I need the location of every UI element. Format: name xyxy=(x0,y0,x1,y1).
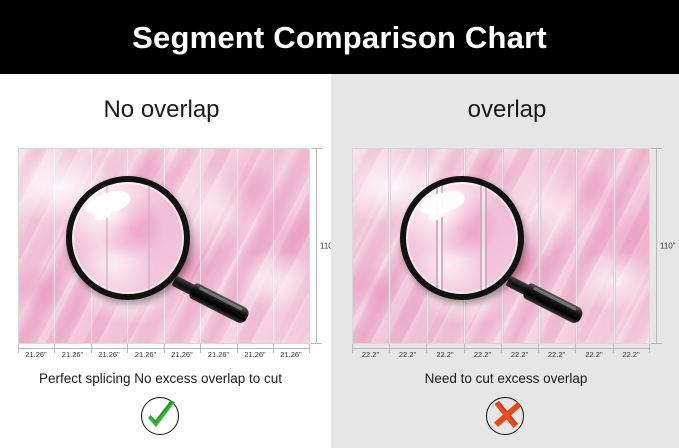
mural-preview-no-overlap xyxy=(18,148,310,344)
segment-width-label: 22.2" xyxy=(575,351,613,359)
cross-mark-icon xyxy=(483,394,529,440)
verdict-no-overlap xyxy=(0,394,331,440)
segment-width-label: 21.26" xyxy=(164,351,200,359)
segment-width-label: 22.2" xyxy=(464,351,501,359)
dimension-line xyxy=(316,148,317,344)
segment-width-label: 22.2" xyxy=(389,351,426,359)
caption-no-overlap: Perfect splicing No excess overlap to cu… xyxy=(0,372,331,386)
caption-overlap: Need to cut excess overlap xyxy=(331,372,679,386)
dimension-cap-top xyxy=(311,148,322,149)
height-label: 110" xyxy=(660,242,676,251)
dimension-cap-bottom xyxy=(311,343,322,344)
cross-mark-glyph xyxy=(483,394,529,440)
dimension-tick xyxy=(649,344,650,353)
height-dimension-overlap: 110" xyxy=(650,148,676,344)
width-dimensions-overlap: 22.2" 22.2" 22.2" 22.2" 22.2" 22.2" 22.2… xyxy=(352,344,650,366)
height-dimension-no-overlap: 110" xyxy=(310,148,332,344)
dimension-tick xyxy=(309,344,310,353)
check-mark-glyph xyxy=(138,394,184,440)
segment-width-label: 22.2" xyxy=(501,351,538,359)
segment-width-label: 21.26" xyxy=(200,351,237,359)
panel-heading-overlap: overlap xyxy=(331,98,679,122)
page-title: Segment Comparison Chart xyxy=(132,22,547,53)
segment-width-label: 22.2" xyxy=(426,351,464,359)
segment-width-label: 21.26" xyxy=(273,351,309,359)
segment-width-label: 21.26" xyxy=(237,351,273,359)
title-bar: Segment Comparison Chart xyxy=(0,0,679,74)
peony-wall-mural-image xyxy=(18,148,310,344)
segment-width-label: 22.2" xyxy=(352,351,389,359)
width-dimensions-no-overlap: 21.26" 21.26" 21.26" 21.26" 21.26" 21.26… xyxy=(18,344,310,366)
segment-width-label: 21.26" xyxy=(18,351,54,359)
verdict-overlap xyxy=(331,394,679,440)
segment-width-label: 21.26" xyxy=(127,351,164,359)
segment-width-label: 21.26" xyxy=(91,351,127,359)
segment-width-label: 21.26" xyxy=(54,351,91,359)
segment-width-label: 22.2" xyxy=(613,351,649,359)
dimension-line xyxy=(656,148,657,344)
peony-wall-mural-image xyxy=(352,148,650,344)
dimension-cap-bottom xyxy=(651,343,662,344)
mural-preview-overlap xyxy=(352,148,650,344)
segment-width-label: 22.2" xyxy=(538,351,575,359)
panel-heading-no-overlap: No overlap xyxy=(0,98,331,122)
check-mark-icon xyxy=(138,394,184,440)
dimension-cap-top xyxy=(651,148,662,149)
panel-no-overlap: No overlap xyxy=(0,74,331,448)
panel-overlap: overlap xyxy=(331,74,679,448)
